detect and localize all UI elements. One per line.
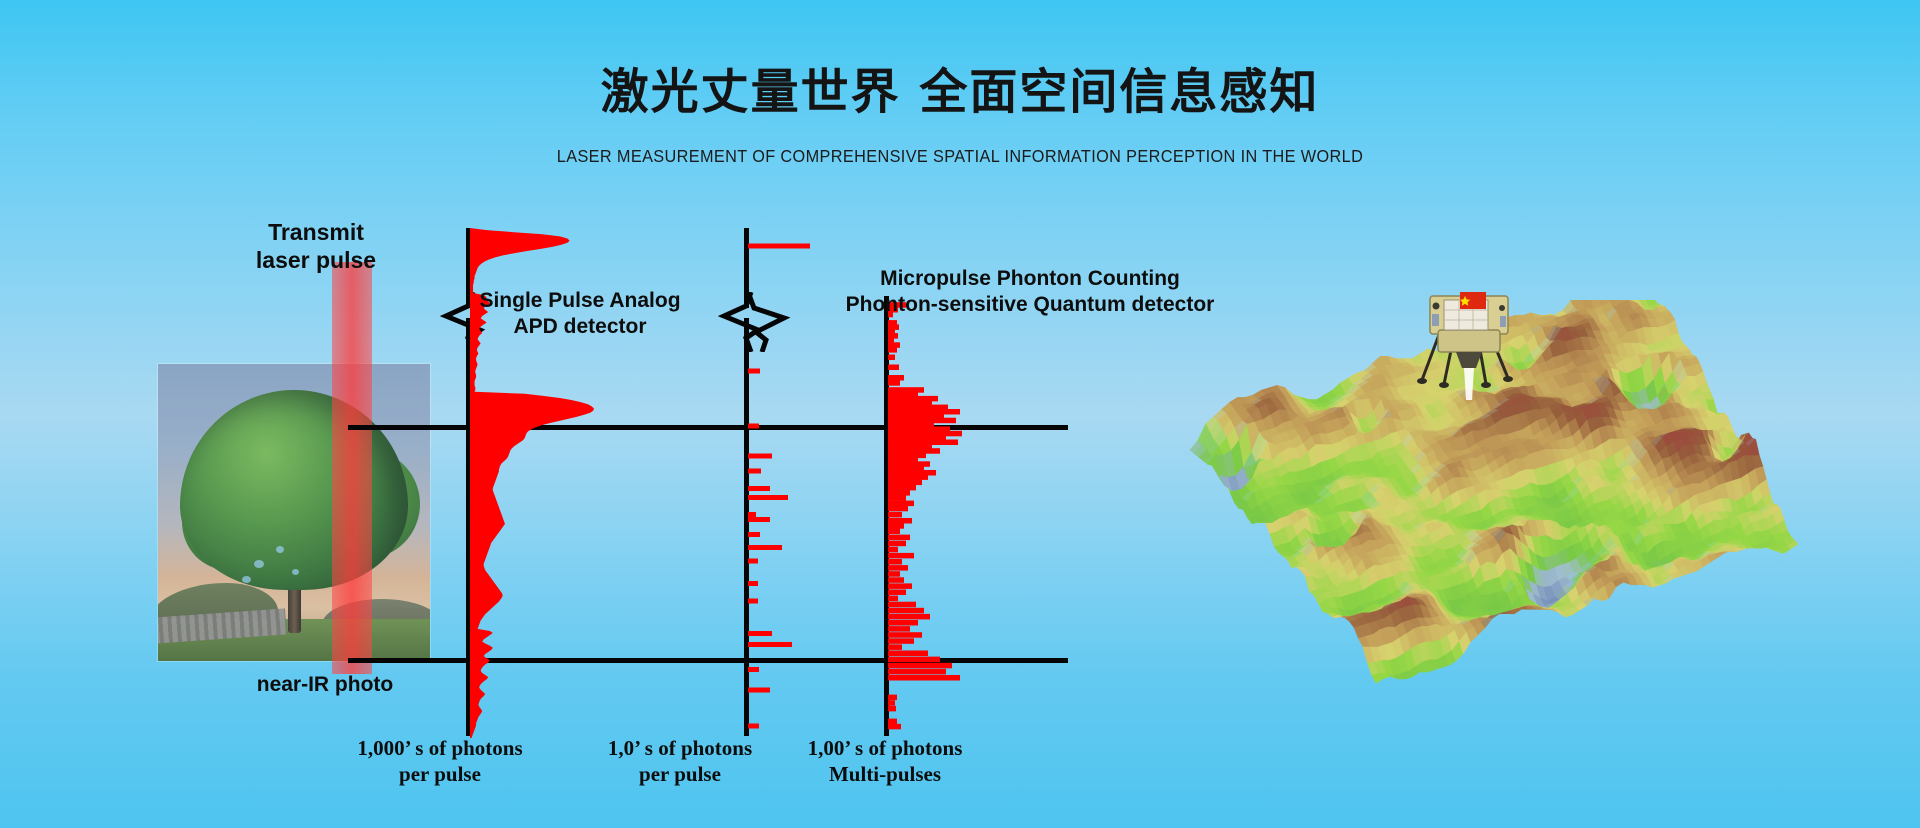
transmit-laser-pulse-label: Transmit laser pulse <box>226 218 406 274</box>
lunar-lander <box>1416 288 1526 400</box>
transmit-laser-beam <box>332 262 372 674</box>
near-ir-photo-caption: near-IR photo <box>190 672 460 698</box>
footer-1-line1: 1,000’ s of photons <box>300 735 580 761</box>
page-title: 激光丈量世界 全面空间信息感知 <box>0 52 1920 122</box>
footer-3-line1: 1,00’ s of photons <box>740 735 1030 761</box>
footer-1-line2: per pulse <box>300 761 580 787</box>
footer-3-line2: Multi-pulses <box>740 761 1030 787</box>
waveform-micropulse-histogram <box>888 300 1018 736</box>
transmit-label-line1: Transmit <box>226 218 406 246</box>
footer-caption-3: 1,00’ s of photons Multi-pulses <box>740 735 1030 788</box>
near-ir-photo <box>158 364 430 661</box>
page-subtitle: LASER MEASUREMENT OF COMPREHENSIVE SPATI… <box>67 146 1853 167</box>
transmit-label-line2: laser pulse <box>226 246 406 274</box>
panel-1-title-line1: Single Pulse Analog <box>400 288 760 314</box>
poster-canvas: 激光丈量世界 全面空间信息感知 LASER MEASUREMENT OF COM… <box>0 0 1920 828</box>
panel-2-title-line1: Micropulse Phonton Counting <box>800 266 1260 292</box>
lidar-terrain-visualization <box>1180 300 1800 720</box>
footer-caption-1: 1,000’ s of photons per pulse <box>300 735 580 788</box>
panel-1-title: Single Pulse Analog APD detector <box>400 288 760 339</box>
photo-ir-tint <box>158 364 430 661</box>
panel-1-title-line2: APD detector <box>400 314 760 340</box>
